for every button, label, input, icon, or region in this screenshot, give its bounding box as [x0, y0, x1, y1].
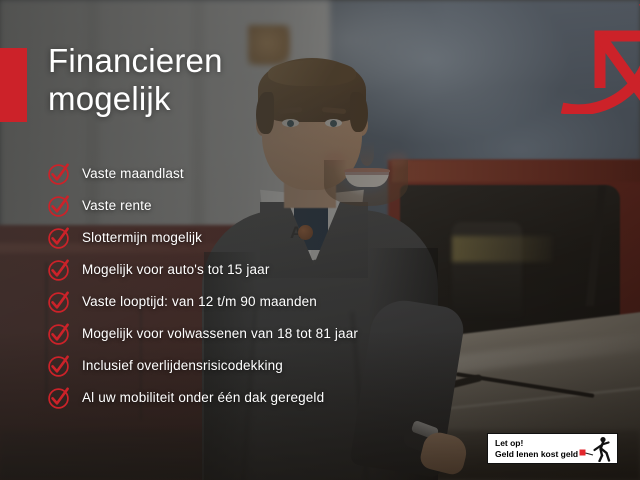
afm-line-2: Geld lenen kost geld	[495, 449, 579, 460]
list-item-label: Mogelijk voor volwassenen van 18 tot 81 …	[82, 326, 358, 342]
list-item-label: Vaste rente	[82, 198, 152, 214]
check-circle-icon	[46, 161, 72, 187]
ad-arc-arrow-logo-icon	[556, 0, 640, 114]
red-accent-block	[0, 48, 27, 122]
financing-promo-banner: A	[0, 0, 640, 480]
check-circle-icon	[46, 321, 72, 347]
list-item: Mogelijk voor volwassenen van 18 tot 81 …	[46, 318, 476, 350]
list-item: Vaste looptijd: van 12 t/m 90 maanden	[46, 286, 476, 318]
list-item: Al uw mobiliteit onder één dak geregeld	[46, 382, 476, 414]
list-item-label: Inclusief overlijdensrisicodekking	[82, 358, 283, 374]
list-item: Vaste rente	[46, 190, 476, 222]
list-item-label: Mogelijk voor auto's tot 15 jaar	[82, 262, 269, 278]
list-item-label: Vaste looptijd: van 12 t/m 90 maanden	[82, 294, 317, 310]
benefits-checklist: Vaste maandlast Vaste rente Slottermijn …	[46, 158, 476, 414]
title-line-2: mogelijk	[48, 80, 378, 118]
afm-warning-text: Let op! Geld lenen kost geld	[495, 438, 579, 460]
list-item: Mogelijk voor auto's tot 15 jaar	[46, 254, 476, 286]
check-circle-icon	[46, 193, 72, 219]
list-item-label: Vaste maandlast	[82, 166, 184, 182]
list-item-label: Slottermijn mogelijk	[82, 230, 202, 246]
list-item: Inclusief overlijdensrisicodekking	[46, 350, 476, 382]
check-circle-icon	[46, 289, 72, 315]
check-circle-icon	[46, 257, 72, 283]
walking-man-ball-and-chain-icon	[579, 436, 613, 462]
list-item: Slottermijn mogelijk	[46, 222, 476, 254]
afm-line-1: Let op!	[495, 438, 579, 449]
page-title: Financieren mogelijk	[48, 42, 378, 118]
check-circle-icon	[46, 353, 72, 379]
title-line-1: Financieren	[48, 42, 378, 80]
list-item-label: Al uw mobiliteit onder één dak geregeld	[82, 390, 324, 406]
check-circle-icon	[46, 225, 72, 251]
check-circle-icon	[46, 385, 72, 411]
list-item: Vaste maandlast	[46, 158, 476, 190]
afm-warning-badge: Let op! Geld lenen kost geld	[487, 433, 618, 464]
